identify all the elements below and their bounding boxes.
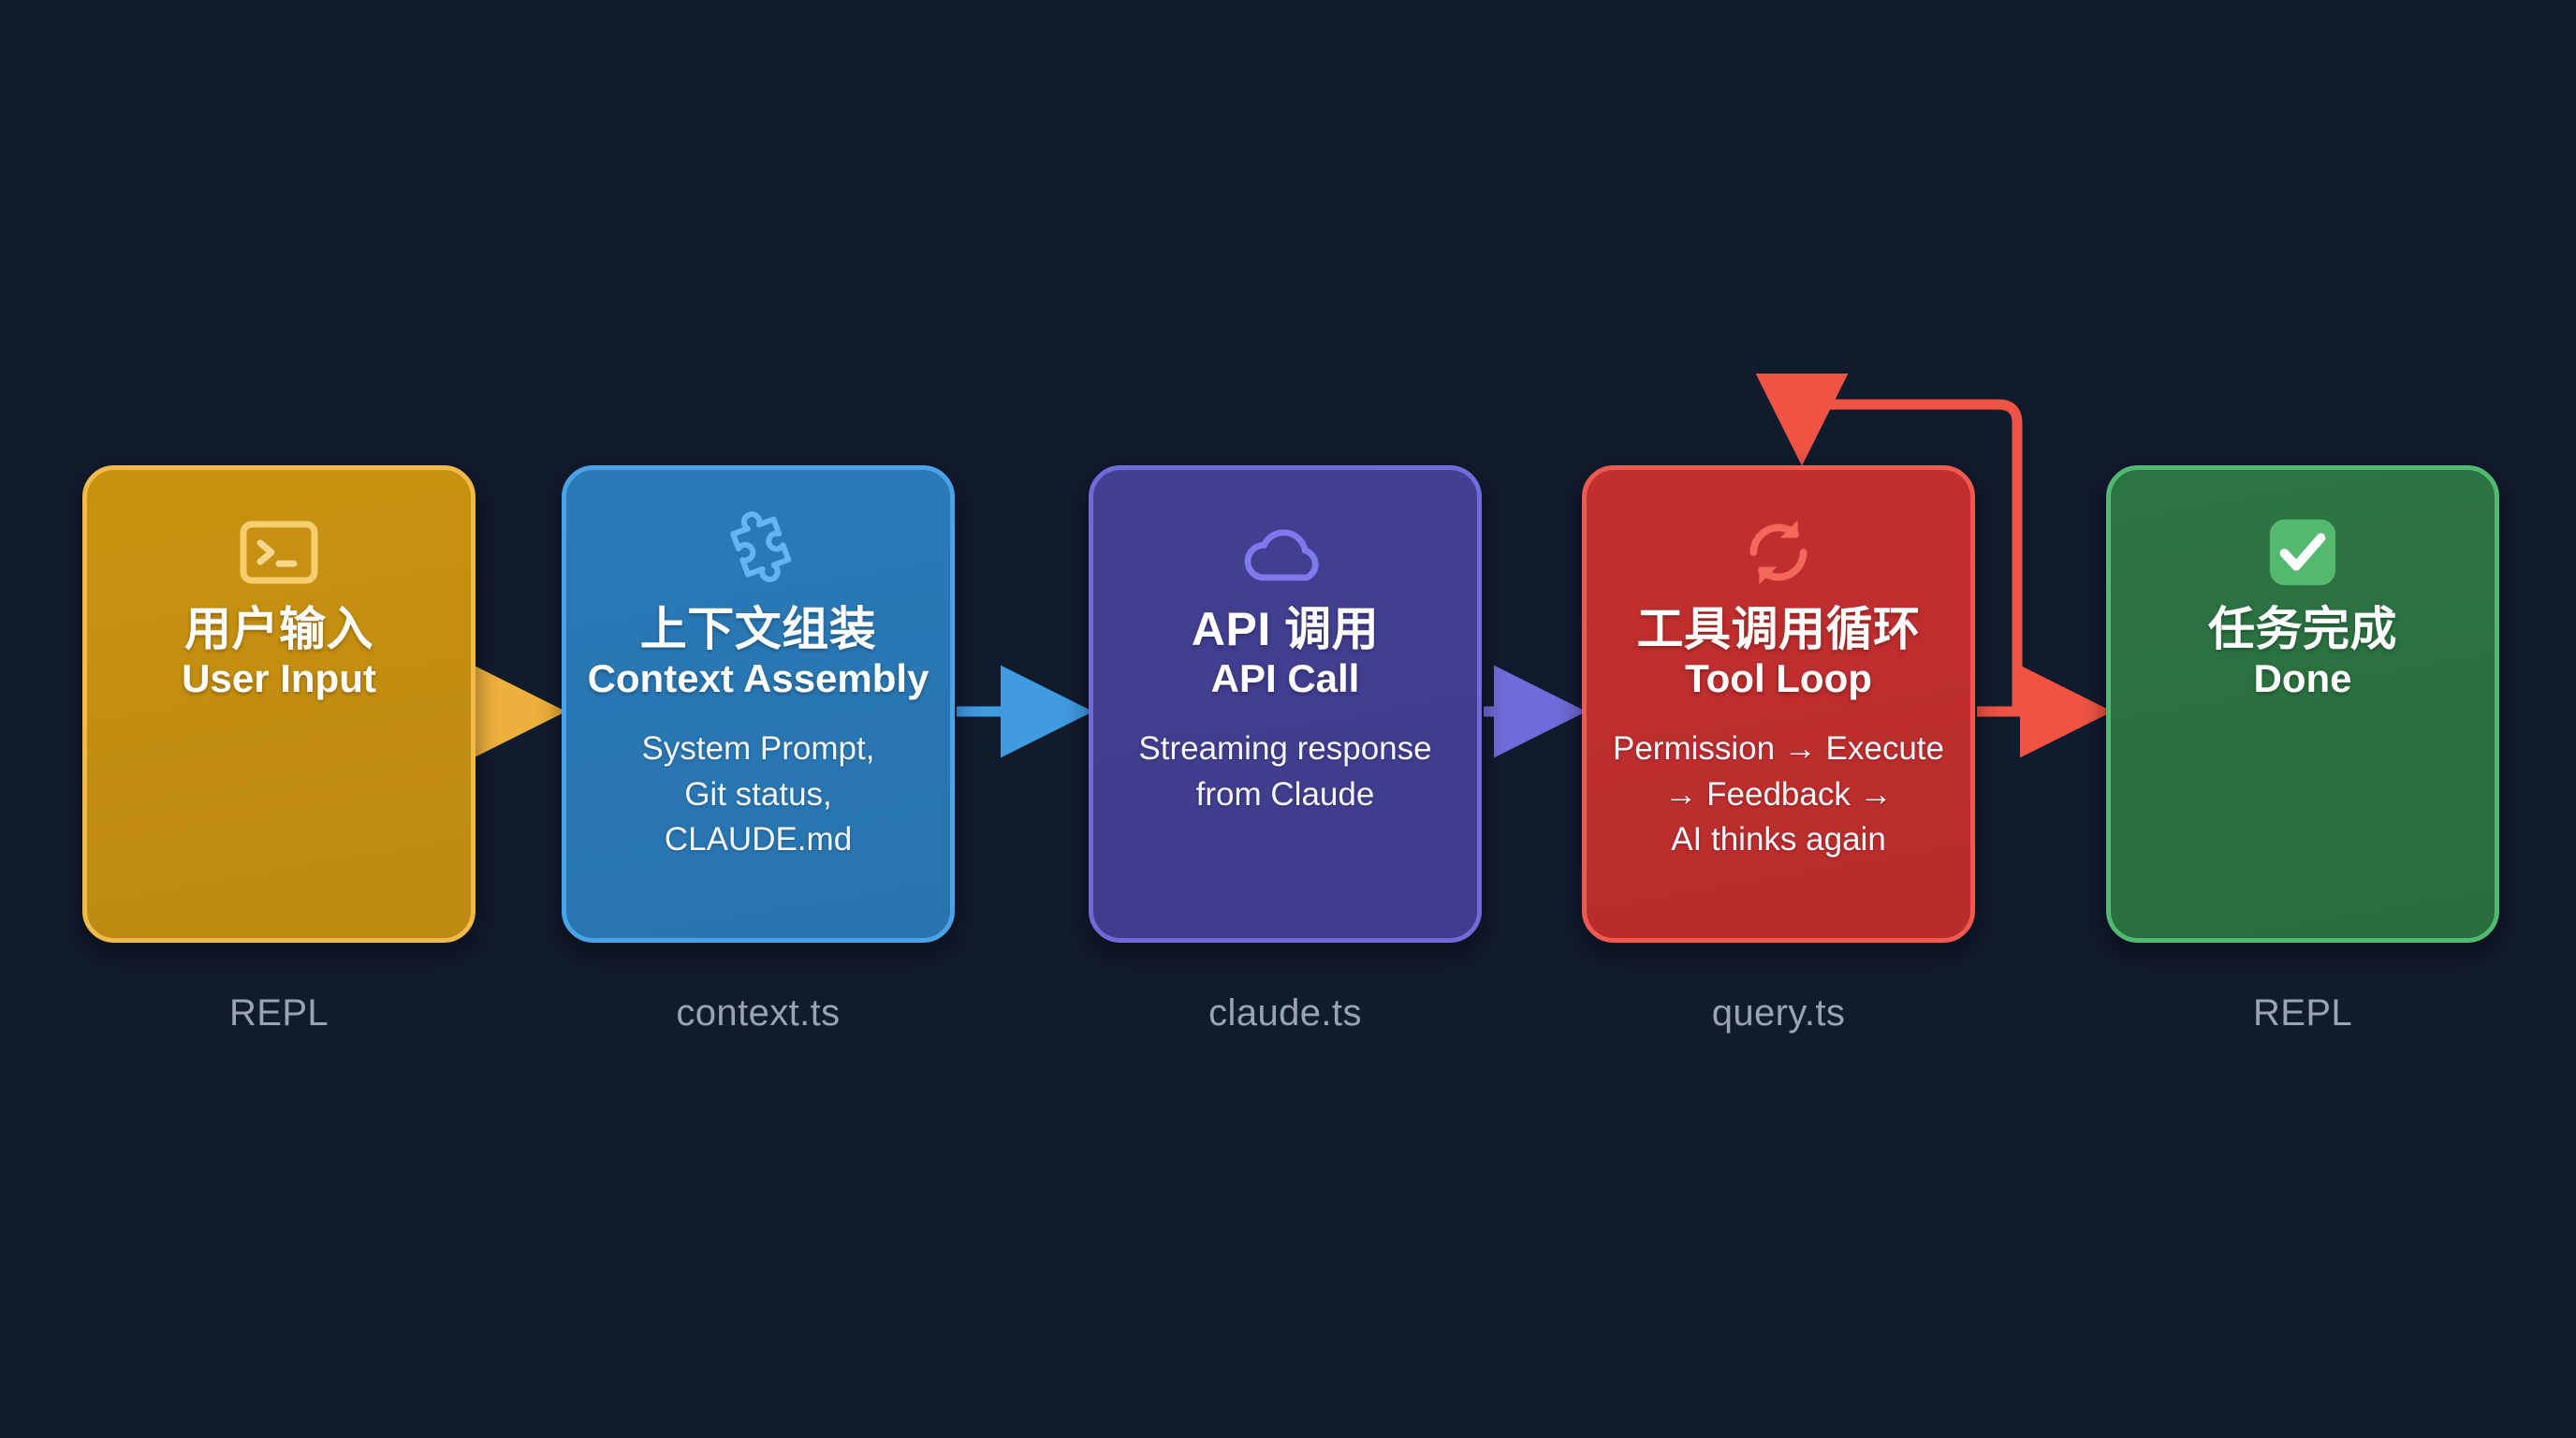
node-tool-loop[interactable]: 工具调用循环 Tool Loop Permission → Execute → … bbox=[1582, 465, 1975, 943]
file-label-context-ts: context.ts bbox=[562, 992, 955, 1034]
file-label-repl-done: REPL bbox=[2106, 992, 2499, 1034]
node-title-en: Done bbox=[2254, 655, 2352, 702]
node-title-cn: 工具调用循环 bbox=[1637, 603, 1921, 655]
refresh-cycle-icon bbox=[1738, 507, 1819, 597]
node-description: Streaming response from Claude bbox=[1121, 726, 1448, 817]
terminal-icon bbox=[240, 507, 318, 597]
node-context-assembly[interactable]: 上下文组装 Context Assembly System Prompt, Gi… bbox=[562, 465, 955, 943]
node-done[interactable]: 任务完成 Done bbox=[2106, 465, 2499, 943]
cloud-icon bbox=[1240, 507, 1330, 597]
node-user-input[interactable]: 用户输入 User Input bbox=[82, 465, 476, 943]
node-title-en: API Call bbox=[1211, 655, 1360, 702]
node-title-cn: 任务完成 bbox=[2208, 603, 2397, 655]
node-title-en: User Input bbox=[182, 655, 376, 702]
node-title-cn: 上下文组装 bbox=[640, 603, 877, 655]
file-label-repl: REPL bbox=[82, 992, 476, 1034]
diagram-canvas: 用户输入 User Input REPL 上下文组装 Context Assem… bbox=[0, 0, 2576, 1438]
check-square-icon bbox=[2266, 507, 2339, 597]
node-title-cn: API 调用 bbox=[1192, 603, 1379, 655]
node-title-en: Tool Loop bbox=[1685, 655, 1872, 702]
node-description: System Prompt, Git status, CLAUDE.md bbox=[625, 726, 892, 862]
node-title-cn: 用户输入 bbox=[184, 603, 373, 655]
file-label-claude-ts: claude.ts bbox=[1089, 992, 1482, 1034]
puzzle-piece-icon bbox=[715, 507, 801, 597]
node-api-call[interactable]: API 调用 API Call Streaming response from … bbox=[1089, 465, 1482, 943]
file-label-query-ts: query.ts bbox=[1582, 992, 1975, 1034]
node-title-en: Context Assembly bbox=[588, 655, 929, 702]
node-description: Permission → Execute → Feedback → AI thi… bbox=[1596, 726, 1961, 862]
